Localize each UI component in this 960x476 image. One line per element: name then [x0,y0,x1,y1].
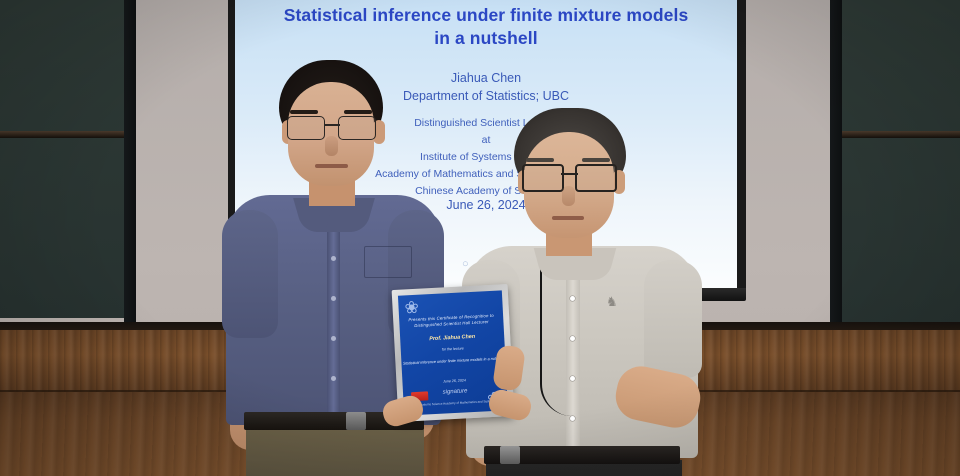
left-person-belt-buckle [346,412,366,430]
left-person-trousers [246,428,424,476]
right-person-eyeglasses-icon [521,164,618,188]
left-person-button [331,296,336,301]
right-person-mouth [552,216,584,220]
left-person-button [331,336,336,341]
chalkboard-right-edge [830,0,842,322]
left-person-button [331,256,336,261]
left-person-shirt-pocket [364,246,412,278]
right-person-nose [562,186,575,206]
eyeglass-lens [575,164,617,192]
certificate-date: June 26, 2024 [402,376,506,385]
eyeglass-lens [287,116,325,140]
photo-scene: Statistical inference under finite mixtu… [0,0,960,476]
left-person-eyeglasses-icon [285,116,378,138]
chalkboard-right [842,0,960,322]
slide-title: Statistical inference under finite mixtu… [235,4,737,51]
floral-ornament-icon: ❀ [404,299,419,317]
chalkboard-left [0,0,124,318]
left-person-nose [325,136,338,156]
left-person-sleeve-near [222,210,278,338]
right-person-belt-buckle [500,446,520,464]
shirt-logo-icon: ♞ [606,294,624,310]
eyeglass-bridge [324,124,340,126]
right-person-sleeve-near [644,260,702,378]
chalkboard-left-edge [124,0,136,322]
left-person-button [331,376,336,381]
right-person-eyebrow [582,158,610,162]
right-person-eyebrow [526,158,554,162]
eyeglass-lens [522,164,564,192]
certificate-subtitle: for the lecture [401,344,505,353]
certificate-recipient-name: Prof. Jiahua Chen [400,332,504,343]
left-person-mouth [315,164,348,168]
right-person-button [570,416,575,421]
certificate-talk-title: Statistical inference under finite mixtu… [401,356,505,367]
slide-title-line2: in a nutshell [235,27,737,50]
chalk-rail-right [842,131,960,138]
eyeglass-bridge [561,173,578,175]
eyeglass-lens [338,116,376,140]
left-person-eyebrow [290,110,318,114]
slide-title-line1: Statistical inference under finite mixtu… [235,4,737,27]
microphone-cable [540,266,572,416]
chalk-rail-left [0,131,124,138]
left-person-shirt-placket [327,220,340,420]
left-person-eyebrow [344,110,372,114]
